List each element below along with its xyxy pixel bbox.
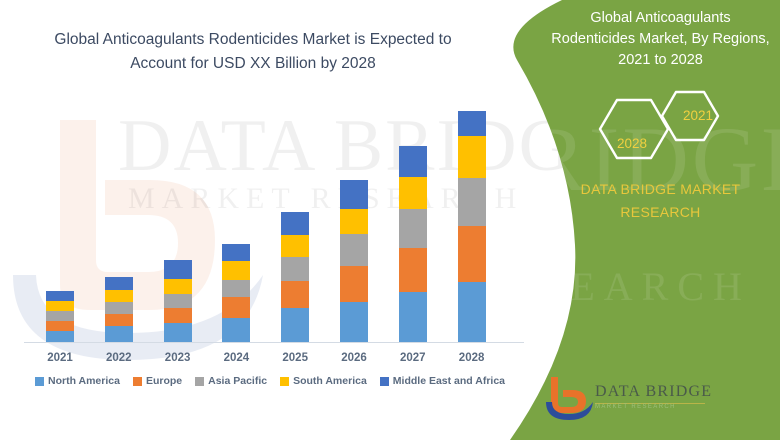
panel-brand-line2: RESEARCH: [620, 204, 700, 220]
bar-segment: [105, 290, 133, 302]
green-side-panel: BRIDGE RESEARCH Global Anticoagulants Ro…: [470, 0, 780, 440]
legend-label: South America: [293, 375, 367, 387]
legend-label: North America: [48, 375, 120, 387]
bar-segment: [281, 257, 309, 281]
bar-column: [340, 180, 368, 342]
bar-segment: [399, 248, 427, 292]
bar-column: [164, 260, 192, 342]
bar-segment: [399, 292, 427, 342]
bar-segment: [281, 308, 309, 342]
bar-segment: [164, 323, 192, 342]
bar-segment: [222, 244, 250, 261]
bar-segment: [281, 281, 309, 308]
legend-swatch: [35, 377, 44, 386]
logo-mark-icon: [545, 375, 593, 421]
bar-segment: [164, 260, 192, 279]
bar-segment: [222, 318, 250, 342]
bar-column: [399, 146, 427, 342]
x-tick-label: 2024: [206, 352, 266, 364]
bar-segment: [105, 277, 133, 290]
bar-segment: [222, 261, 250, 280]
bar-segment: [340, 302, 368, 342]
bar-segment: [222, 297, 250, 318]
bar-segment: [164, 279, 192, 294]
chart-legend: North AmericaEuropeAsia PacificSouth Ame…: [0, 375, 540, 387]
logo-subtitle: MARKET RESEARCH: [595, 404, 676, 410]
x-tick-label: 2025: [265, 352, 325, 364]
panel-brand: DATA BRIDGE MARKET RESEARCH: [548, 178, 773, 224]
x-tick-label: 2026: [324, 352, 384, 364]
legend-swatch: [195, 377, 204, 386]
bar-segment: [46, 321, 74, 331]
bar-segment: [281, 212, 309, 235]
bar-segment: [340, 266, 368, 302]
bar-segment: [46, 301, 74, 311]
hexagon-group: 2028 2021: [570, 88, 750, 170]
hex-2021-label: 2021: [683, 108, 713, 123]
logo-title: DATA BRIDGE: [595, 383, 712, 401]
bar-segment: [399, 209, 427, 248]
bar-segment: [164, 294, 192, 308]
stacked-bar-chart: 20212022202320242025202620272028: [0, 0, 540, 250]
bar-segment: [340, 234, 368, 266]
legend-swatch: [280, 377, 289, 386]
panel-title: Global Anticoagulants Rodenticides Marke…: [548, 8, 773, 71]
data-bridge-logo: DATA BRIDGE MARKET RESEARCH: [545, 375, 735, 423]
bar-column: [222, 244, 250, 342]
bar-segment: [46, 331, 74, 342]
bar-segment: [399, 177, 427, 209]
bar-column: [281, 212, 309, 342]
infographic-canvas: DATA BRIDGE MARKET RESEARCH Global Antic…: [0, 0, 780, 440]
bar-segment: [105, 302, 133, 314]
x-tick-label: 2022: [89, 352, 149, 364]
legend-item[interactable]: Asia Pacific: [195, 375, 267, 387]
legend-item[interactable]: Europe: [133, 375, 182, 387]
x-tick-label: 2027: [383, 352, 443, 364]
legend-label: Europe: [146, 375, 182, 387]
bar-segment: [281, 235, 309, 257]
legend-swatch: [380, 377, 389, 386]
bar-segment: [164, 308, 192, 323]
bar-segment: [340, 209, 368, 234]
bar-column: [46, 291, 74, 342]
bar-segment: [222, 280, 250, 297]
chart-x-axis: [24, 342, 524, 343]
legend-item[interactable]: North America: [35, 375, 120, 387]
bar-segment: [340, 180, 368, 209]
legend-swatch: [133, 377, 142, 386]
legend-item[interactable]: South America: [280, 375, 367, 387]
legend-label: Asia Pacific: [208, 375, 267, 387]
x-tick-label: 2023: [148, 352, 208, 364]
bar-segment: [105, 326, 133, 342]
bar-segment: [399, 146, 427, 177]
panel-brand-line1: DATA BRIDGE MARKET: [581, 181, 741, 197]
bar-segment: [46, 291, 74, 301]
hex-2028-label: 2028: [617, 136, 647, 151]
bar-segment: [46, 311, 74, 321]
x-tick-label: 2021: [30, 352, 90, 364]
bar-segment: [105, 314, 133, 326]
chart-plot-area: [0, 0, 540, 342]
bar-column: [105, 277, 133, 342]
